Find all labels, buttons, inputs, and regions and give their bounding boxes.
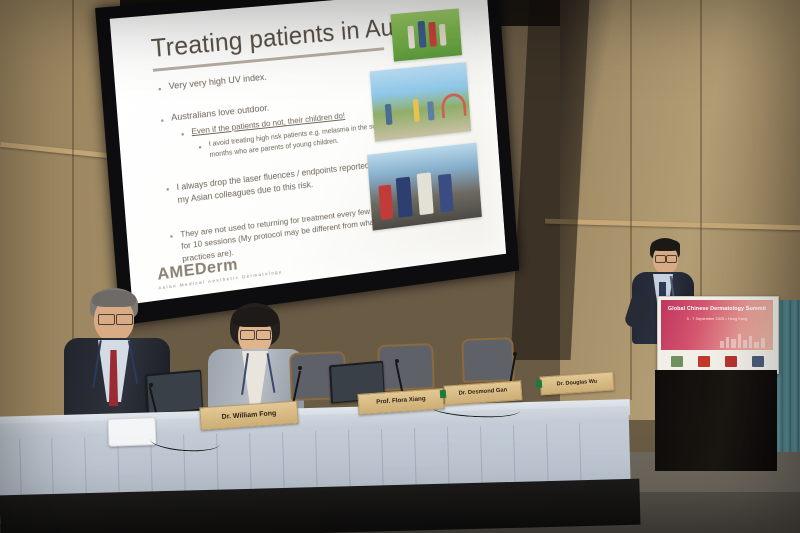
eyeglasses (98, 314, 115, 325)
bullet-dot-icon: ▪ (198, 141, 202, 154)
eyeglasses (256, 330, 271, 340)
skyline-graphic (718, 332, 770, 348)
nameplate-3-text: Dr. Desmond Gan (459, 388, 508, 397)
podium: Global Chinese Dermatology Summit 5 - 7 … (655, 296, 780, 471)
bullet-dot-icon: ▪ (169, 230, 173, 243)
bullet-dot-icon: ▪ (158, 83, 162, 95)
microphone-head-3 (395, 359, 399, 363)
tabletop-device[interactable] (108, 417, 157, 447)
conference-photo-scene: Treating patients in Australia ▪ Very ve… (0, 0, 800, 533)
nameplate-4-text: Dr. Douglas Wu (557, 379, 598, 387)
signage-banner: Global Chinese Dermatology Summit 5 - 7 … (661, 300, 773, 350)
sponsor-logo-4 (752, 356, 764, 367)
microphone-head-4 (513, 352, 517, 356)
sponsor-logo-1 (671, 356, 683, 367)
sponsor-logo-2 (698, 356, 710, 367)
podium-signage: Global Chinese Dermatology Summit 5 - 7 … (657, 296, 779, 374)
slide-bullet-6: ▪ They are not used to returning for tre… (180, 201, 403, 264)
podium-body (655, 370, 777, 471)
sponsor-logos (663, 354, 771, 369)
slide-photo-sports-start-line (367, 143, 482, 231)
presentation-slide: Treating patients in Australia ▪ Very ve… (110, 0, 506, 304)
event-title: Global Chinese Dermatology Summit (661, 306, 773, 312)
event-date-location: 5 - 7 September 2025 • Hong Kong (661, 316, 773, 321)
bullet-dot-icon: ▪ (166, 183, 170, 196)
eyeglasses (240, 330, 255, 340)
empty-chair-3 (461, 337, 515, 383)
slide-photo-children-running (390, 8, 462, 61)
projection-screen: Treating patients in Australia ▪ Very ve… (95, 0, 519, 326)
wall-seam-3 (700, 0, 702, 300)
nameplate-clip (440, 390, 447, 398)
microphone-head-1 (149, 383, 153, 387)
empty-chair-2 (377, 343, 435, 391)
slide-bullet-5: ▪ I always drop the laser fluences / end… (176, 157, 394, 206)
nameplate-clip (536, 380, 543, 388)
slide-photo-park-playground (370, 62, 471, 141)
bullet-dot-icon: ▪ (181, 128, 185, 140)
eyeglasses (116, 314, 133, 325)
eyeglasses (666, 255, 677, 263)
nameplate-2-text: Prof. Flora Xiang (376, 397, 426, 407)
eyeglasses (655, 255, 666, 263)
sponsor-logo-3 (725, 356, 737, 367)
nameplate-1-text: Dr. William Fong (221, 410, 276, 421)
bullet-dot-icon: ▪ (160, 114, 164, 126)
microphone-head-2 (298, 366, 302, 370)
